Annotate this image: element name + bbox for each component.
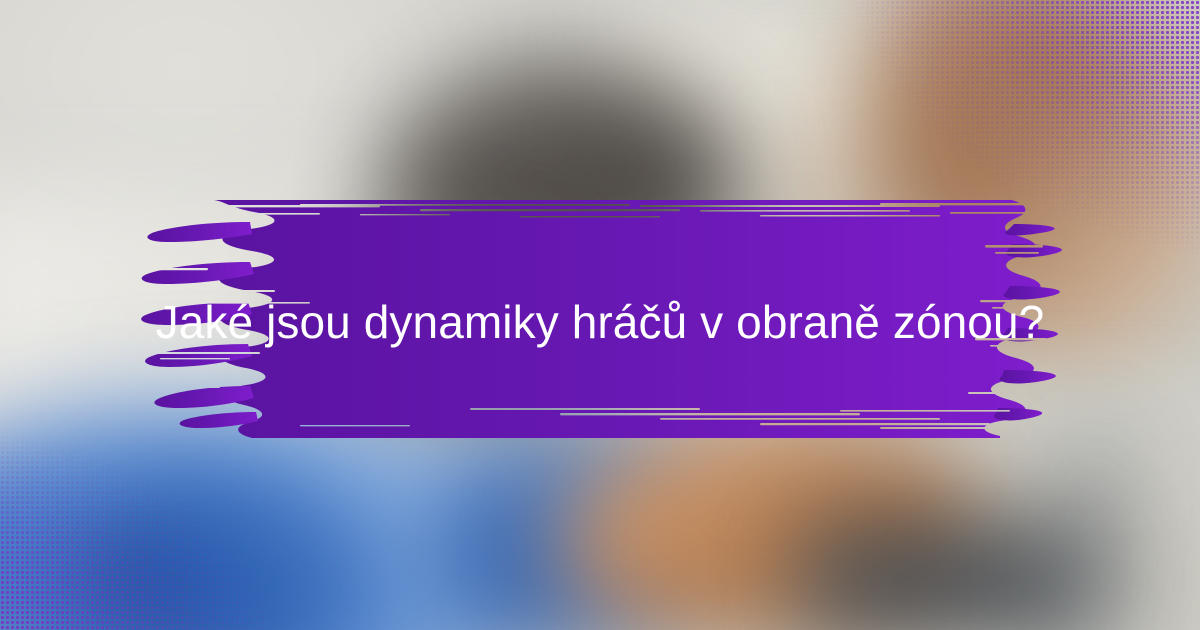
- headline-title: Jaké jsou dynamiky hráčů v obraně zónou?: [156, 296, 1045, 349]
- share-card: Jaké jsou dynamiky hráčů v obraně zónou?: [0, 0, 1200, 630]
- headline-container: Jaké jsou dynamiky hráčů v obraně zónou?: [0, 0, 1200, 630]
